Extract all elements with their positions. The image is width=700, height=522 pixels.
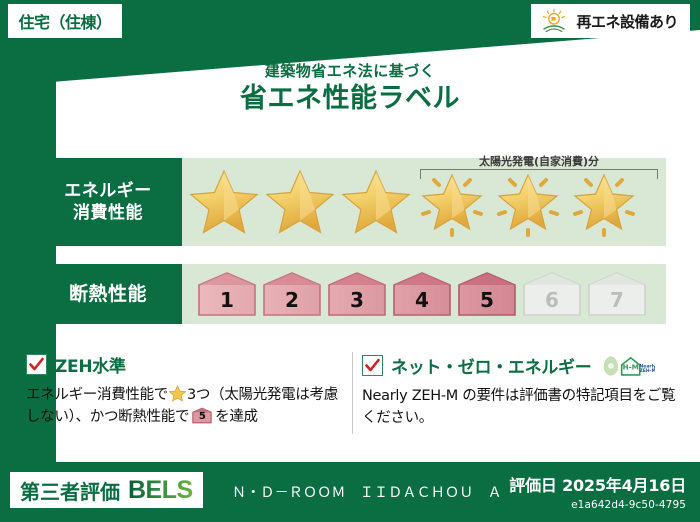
evaluation-date: 評価日 2025年4月16日 xyxy=(509,472,686,496)
housing-type-chip: 住宅（住棟） xyxy=(8,4,122,38)
third-party-label: 第三者評価 xyxy=(20,476,120,505)
zeh-m-logo-icon: H-M Nearly ZEH-M xyxy=(601,352,655,378)
evaluation-id: e1a642d4-9c50-4795 xyxy=(509,499,686,511)
star-4 xyxy=(414,166,490,238)
insulation-level-5: 5 xyxy=(456,271,518,317)
nze-check-column: ネット・ゼロ・エネルギー H-M Nearly ZEH-M Nearly ZEH… xyxy=(362,352,680,430)
inline-star-icon xyxy=(169,385,186,402)
star-rating: 太陽光発電(自家消費)分 xyxy=(182,158,666,246)
energy-performance-label-box: エネルギー 消費性能 xyxy=(34,158,182,246)
insulation-level-scale: 1 2 xyxy=(182,264,648,324)
bels-certification-chip: 第三者評価 BELS xyxy=(10,472,203,508)
insulation-level-number: 6 xyxy=(545,290,559,317)
star-icon-sparkle xyxy=(568,167,640,237)
housing-type-label: 住宅（住棟） xyxy=(18,9,111,33)
star-icon xyxy=(188,167,260,237)
nze-title: ネット・ゼロ・エネルギー xyxy=(391,353,591,378)
energy-label-line1: エネルギー xyxy=(64,180,152,202)
card-bottom-strip xyxy=(56,452,700,462)
title-main: 省エネ性能ラベル xyxy=(0,82,700,116)
renewable-energy-label: 再エネ設備あり xyxy=(576,11,678,32)
star-icon xyxy=(340,167,412,237)
zeh-check-header: ZEH水準 xyxy=(26,352,348,377)
insulation-level-7: 7 xyxy=(586,271,648,317)
property-name: Ｎ・Ｄ－ＲＯＯＭ ＩＩＤＡＣＨＯＵ Ａ xyxy=(232,482,502,502)
zeh-description-part3: を達成 xyxy=(215,409,258,425)
inline-house-number: 5 xyxy=(191,407,213,425)
insulation-level-2: 2 xyxy=(261,271,323,317)
renewable-energy-badge: 再エネ設備あり xyxy=(531,4,690,38)
check-icon xyxy=(364,357,381,374)
bels-logo-text: BELS xyxy=(128,476,193,505)
inline-house-badge: 5 xyxy=(191,407,213,424)
insulation-level-6: 6 xyxy=(521,271,583,317)
insulation-level-number: 5 xyxy=(480,290,494,317)
zeh-description: エネルギー消費性能で3つ（太陽光発電は考慮しない）、かつ断熱性能で5を達成 xyxy=(26,384,348,429)
insulation-level-4: 4 xyxy=(391,271,453,317)
star-icon xyxy=(264,167,336,237)
insulation-level-1: 1 xyxy=(196,271,258,317)
star-6 xyxy=(566,166,642,238)
star-3 xyxy=(338,166,414,238)
insulation-level-3: 3 xyxy=(326,271,388,317)
footer-bar: 第三者評価 BELS Ｎ・Ｄ－ＲＯＯＭ ＩＩＤＡＣＨＯＵ Ａ 評価日 2025年… xyxy=(0,462,700,522)
insulation-level-number: 2 xyxy=(285,290,299,317)
zeh-title: ZEH水準 xyxy=(55,352,126,377)
check-icon xyxy=(28,356,45,373)
zeh-checkbox xyxy=(26,354,47,375)
insulation-performance-row: 断熱性能 1 xyxy=(34,264,666,324)
energy-performance-row: エネルギー 消費性能 xyxy=(34,158,666,246)
zeh-check-column: ZEH水準 エネルギー消費性能で3つ（太陽光発電は考慮しない）、かつ断熱性能で5… xyxy=(26,352,348,429)
insulation-level-number: 3 xyxy=(350,290,364,317)
insulation-level-number: 7 xyxy=(610,290,624,317)
energy-performance-label: 住宅（住棟） 再エネ設備あり 建築物省エネ法に基づく 省エネ性能ラベル エネルギ… xyxy=(0,0,700,522)
zeh-m-logo-sub2: ZEH-M xyxy=(640,368,655,374)
star-1 xyxy=(186,166,262,238)
star-5 xyxy=(490,166,566,238)
zeh-m-logo-main: H-M xyxy=(623,363,639,372)
energy-performance-body: 太陽光発電(自家消費)分 xyxy=(182,158,666,246)
title-subtitle: 建築物省エネ法に基づく xyxy=(0,62,700,80)
nze-checkbox xyxy=(362,355,383,376)
sun-icon xyxy=(539,8,569,34)
checklist-divider xyxy=(352,352,353,434)
insulation-level-number: 1 xyxy=(220,290,234,317)
insulation-performance-label-box: 断熱性能 xyxy=(34,264,182,324)
zeh-description-part1: エネルギー消費性能で xyxy=(26,387,168,403)
star-icon-sparkle xyxy=(416,167,488,237)
insulation-level-number: 4 xyxy=(415,290,429,317)
energy-label-line2: 消費性能 xyxy=(73,202,143,224)
nze-check-header: ネット・ゼロ・エネルギー H-M Nearly ZEH-M xyxy=(362,352,680,378)
nze-description: Nearly ZEH-M の要件は評価書の特記項目をご覧ください。 xyxy=(362,385,680,430)
insulation-label: 断熱性能 xyxy=(69,282,147,307)
evaluation-info: 評価日 2025年4月16日 e1a642d4-9c50-4795 xyxy=(509,472,686,511)
star-2 xyxy=(262,166,338,238)
label-title-block: 建築物省エネ法に基づく 省エネ性能ラベル xyxy=(0,62,700,116)
insulation-performance-body: 1 2 xyxy=(182,264,666,324)
star-icon-sparkle xyxy=(492,167,564,237)
